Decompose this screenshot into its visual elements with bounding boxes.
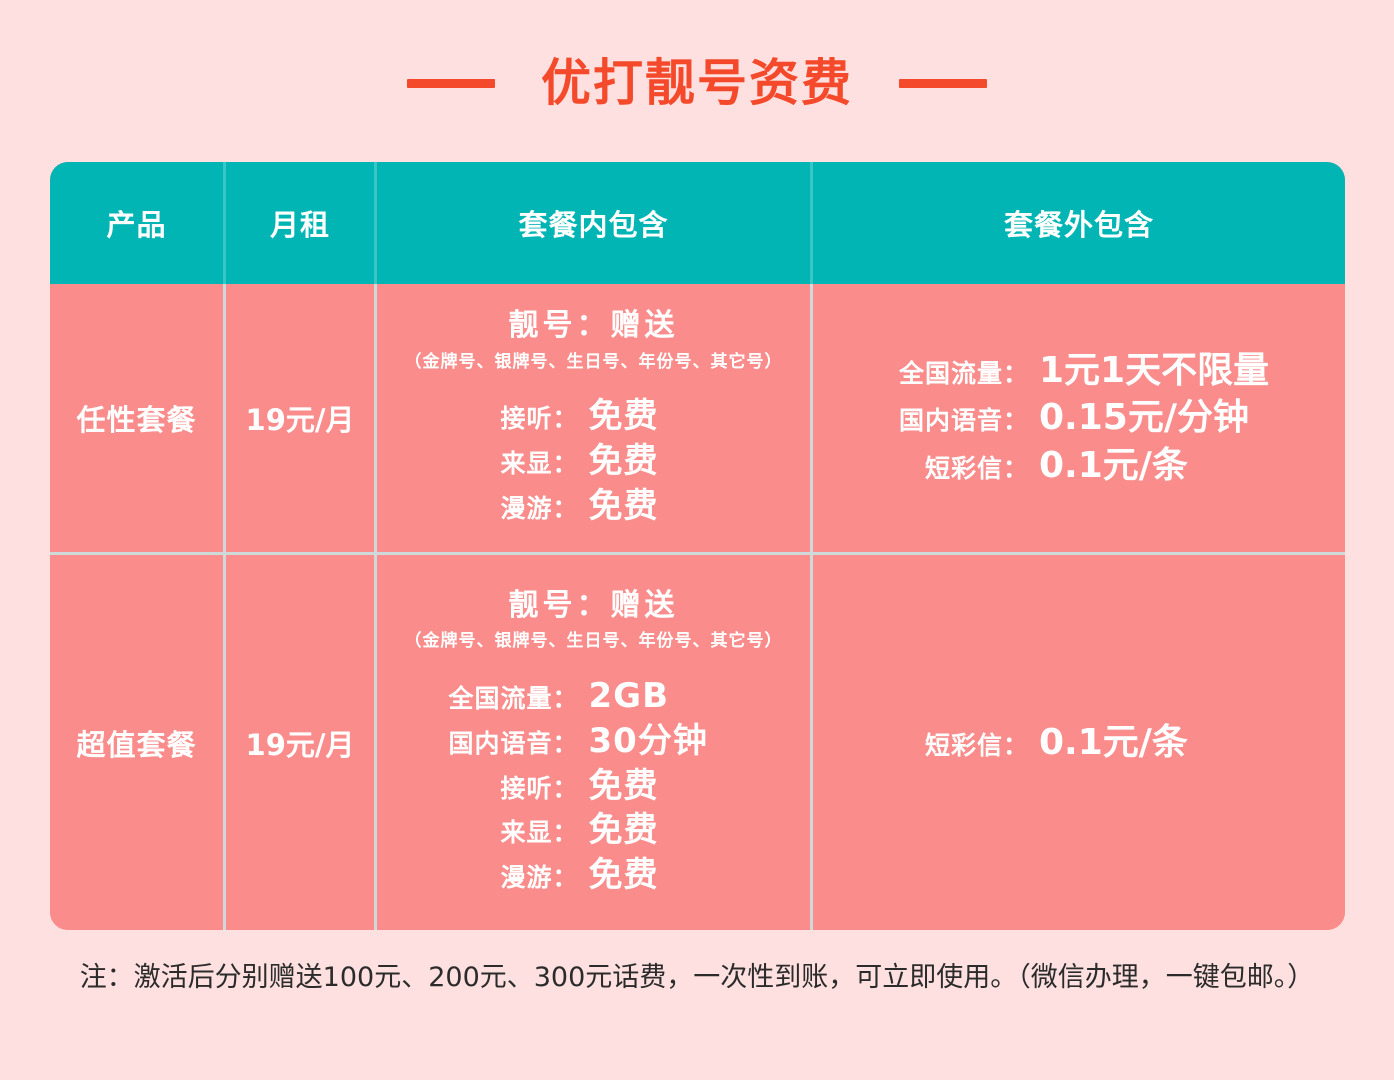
included-sub-note: （金牌号、银牌号、生日号、年份号、其它号） — [405, 352, 783, 372]
outside-item-key: 短彩信： — [829, 729, 1039, 762]
promo-page: 优打靓号资费 产品 月租 套餐内包含 套餐外包含 任性套餐 19元 — [0, 0, 1394, 1080]
outside-item-value: 1元1天不限量 — [1039, 347, 1329, 395]
cell-monthly-fee: 19元/月 — [223, 555, 374, 930]
included-item-value: 2GB — [589, 674, 779, 719]
included-item: 漫游： 免费 — [377, 853, 810, 898]
table-header-cell-outside: 套餐外包含 — [810, 162, 1345, 284]
included-lead: 靓号：赠送 — [509, 307, 679, 345]
included-item-value: 免费 — [589, 853, 779, 898]
included-item-key: 全国流量： — [409, 682, 589, 715]
included-lead-key: 靓号： — [509, 588, 611, 623]
outside-item: 短彩信： 0.1元/条 — [813, 719, 1345, 767]
included-item-key: 来显： — [409, 816, 589, 849]
included-item: 全国流量： 2GB — [377, 674, 810, 719]
monthly-fee: 19元/月 — [246, 397, 355, 439]
outside-item-list: 短彩信： 0.1元/条 — [813, 719, 1345, 767]
cell-product-name: 任性套餐 — [50, 284, 223, 552]
table-header-label: 产品 — [106, 202, 166, 244]
table-row: 超值套餐 19元/月 靓号：赠送 （金牌号、银牌号、生日号、年份号、其它号） 全… — [50, 552, 1345, 930]
outside-item-value: 0.1元/条 — [1039, 442, 1329, 490]
table-header-label: 月租 — [270, 202, 330, 244]
included-item-value: 免费 — [589, 439, 779, 484]
table-header-row: 产品 月租 套餐内包含 套餐外包含 — [50, 162, 1345, 284]
included-sub-note: （金牌号、银牌号、生日号、年份号、其它号） — [405, 631, 783, 651]
included-item-value: 30分钟 — [589, 719, 779, 764]
included-lead-key: 靓号： — [509, 308, 611, 343]
product-name: 超值套餐 — [76, 722, 196, 764]
included-item-list: 接听： 免费 来显： 免费 漫游： 免费 — [377, 394, 810, 529]
included-item-key: 接听： — [409, 402, 589, 435]
cell-included-package: 靓号：赠送 （金牌号、银牌号、生日号、年份号、其它号） 全国流量： 2GB 国内… — [374, 555, 810, 930]
outside-item: 短彩信： 0.1元/条 — [813, 442, 1345, 490]
outside-item-key: 国内语音： — [829, 404, 1039, 437]
page-title-row: 优打靓号资费 — [0, 48, 1394, 118]
outside-item: 国内语音： 0.15元/分钟 — [813, 394, 1345, 442]
included-item: 漫游： 免费 — [377, 484, 810, 529]
included-item-key: 来显： — [409, 447, 589, 480]
outside-item-key: 短彩信： — [829, 452, 1039, 485]
included-item-key: 漫游： — [409, 492, 589, 525]
cell-monthly-fee: 19元/月 — [223, 284, 374, 552]
cell-outside-package: 短彩信： 0.1元/条 — [810, 555, 1345, 930]
cell-included-package: 靓号：赠送 （金牌号、银牌号、生日号、年份号、其它号） 接听： 免费 来显： 免… — [374, 284, 810, 552]
table-row: 任性套餐 19元/月 靓号：赠送 （金牌号、银牌号、生日号、年份号、其它号） 接… — [50, 284, 1345, 552]
included-item-value: 免费 — [589, 394, 779, 439]
monthly-fee: 19元/月 — [246, 722, 355, 764]
included-lead-value: 赠送 — [611, 588, 679, 623]
included-item-value: 免费 — [589, 808, 779, 853]
included-item-value: 免费 — [589, 764, 779, 809]
included-item: 来显： 免费 — [377, 808, 810, 853]
tariff-table: 产品 月租 套餐内包含 套餐外包含 任性套餐 19元/月 — [50, 162, 1345, 930]
cell-product-name: 超值套餐 — [50, 555, 223, 930]
included-item: 来显： 免费 — [377, 439, 810, 484]
title-dash-left-icon — [407, 79, 495, 88]
outside-item-list: 全国流量： 1元1天不限量 国内语音： 0.15元/分钟 短彩信： 0.1元/条 — [813, 347, 1345, 490]
table-header-label: 套餐外包含 — [1004, 202, 1154, 244]
outside-item-value: 0.15元/分钟 — [1039, 394, 1329, 442]
page-title: 优打靓号资费 — [541, 58, 853, 108]
included-item: 接听： 免费 — [377, 394, 810, 439]
table-header-label: 套餐内包含 — [518, 202, 668, 244]
included-item-key: 接听： — [409, 772, 589, 805]
table-header-cell-included: 套餐内包含 — [374, 162, 810, 284]
included-item-key: 漫游： — [409, 861, 589, 894]
included-item: 接听： 免费 — [377, 764, 810, 809]
footnote: 注：激活后分别赠送100元、200元、300元话费，一次性到账，可立即使用。（微… — [0, 955, 1394, 994]
outside-item: 全国流量： 1元1天不限量 — [813, 347, 1345, 395]
included-lead: 靓号：赠送 — [509, 587, 679, 625]
outside-item-key: 全国流量： — [829, 357, 1039, 390]
included-lead-value: 赠送 — [611, 308, 679, 343]
included-item-value: 免费 — [589, 484, 779, 529]
cell-outside-package: 全国流量： 1元1天不限量 国内语音： 0.15元/分钟 短彩信： 0.1元/条 — [810, 284, 1345, 552]
included-item-key: 国内语音： — [409, 727, 589, 760]
included-item: 国内语音： 30分钟 — [377, 719, 810, 764]
title-dash-right-icon — [899, 79, 987, 88]
table-header-cell-monthly-fee: 月租 — [223, 162, 374, 284]
included-item-list: 全国流量： 2GB 国内语音： 30分钟 接听： 免费 来显： — [377, 674, 810, 898]
outside-item-value: 0.1元/条 — [1039, 719, 1329, 767]
table-header-cell-product: 产品 — [50, 162, 223, 284]
product-name: 任性套餐 — [76, 397, 196, 439]
